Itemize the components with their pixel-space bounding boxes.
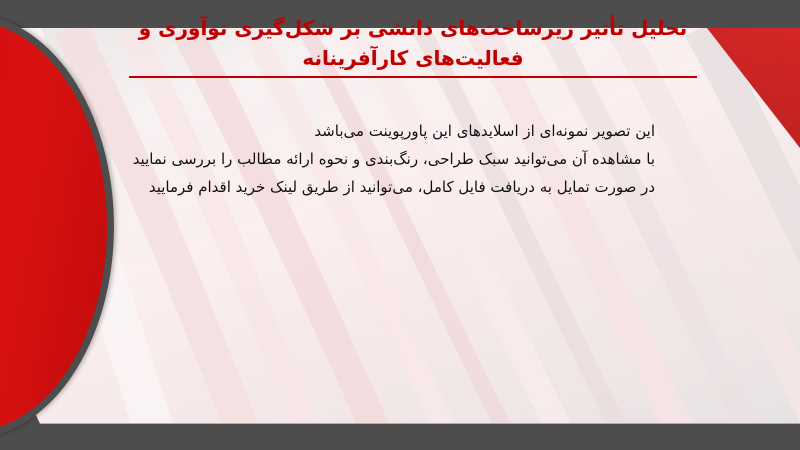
left-red-ellipse (0, 14, 114, 439)
slide-body-line-1: این تصویر نمونه‌ای از اسلایدهای این پاور… (135, 118, 655, 146)
slide-title-line-1: تحلیل تأثیر زیرساخت‌های دانشی بر شکل‌گیر… (118, 14, 708, 44)
slide-body: این تصویر نمونه‌ای از اسلایدهای این پاور… (135, 118, 655, 201)
left-red-ellipse-fill (0, 14, 114, 439)
slide-title: تحلیل تأثیر زیرساخت‌های دانشی بر شکل‌گیر… (118, 14, 708, 78)
title-underline (129, 76, 697, 78)
slide-body-line-3: در صورت تمایل به دریافت فایل کامل، می‌تو… (135, 174, 655, 202)
presentation-slide: تحلیل تأثیر زیرساخت‌های دانشی بر شکل‌گیر… (0, 0, 800, 450)
slide-title-line-2: فعالیت‌های کارآفرینانه (118, 44, 708, 74)
slide-content-panel (0, 28, 800, 438)
slide-body-line-2: با مشاهده آن می‌توانید سبک طراحی، رنگ‌بن… (135, 146, 655, 174)
